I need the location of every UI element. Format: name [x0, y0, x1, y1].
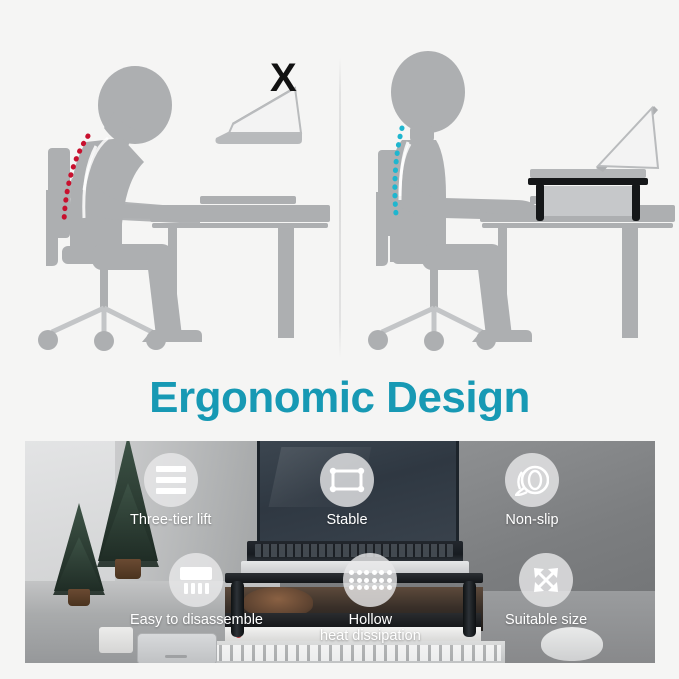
feature-label: Suitable size [505, 612, 587, 628]
computer-mouse [541, 627, 603, 661]
feature-label: Non-slip [505, 512, 558, 528]
feature-hollow-heat-dissipation[interactable]: Hollow heat dissipation [320, 553, 421, 644]
feature-label: Easy to disassemble [130, 612, 263, 628]
rectangle-frame-icon [320, 453, 374, 507]
bad-posture-panel: X [0, 0, 339, 362]
bad-posture-illustration [0, 0, 339, 362]
feature-label: Three-tier lift [130, 512, 211, 528]
good-posture-illustration [340, 0, 679, 362]
perforated-dots-icon [343, 553, 397, 607]
page-title: Ergonomic Design [0, 373, 679, 423]
wrong-mark-icon: X [270, 58, 296, 98]
feature-easy-to-disassemble[interactable]: Easy to disassemble [130, 553, 263, 628]
smartphone [137, 633, 217, 663]
tape-roll-icon [505, 453, 559, 507]
infographic-page: X [0, 0, 679, 679]
feature-stable[interactable]: Stable [320, 453, 374, 528]
feature-label: Stable [326, 512, 367, 528]
detachable-part-icon [169, 553, 223, 607]
keyboard-keys [211, 645, 501, 661]
stacked-bars-icon [144, 453, 198, 507]
good-posture-panel [340, 0, 679, 362]
expand-arrows-icon [519, 553, 573, 607]
comparison-section: X [0, 0, 679, 362]
small-pad [99, 627, 133, 653]
product-photo: Three-tier lift Stable No [25, 441, 655, 663]
feature-suitable-size[interactable]: Suitable size [505, 553, 587, 628]
stand-leg-right [463, 581, 476, 637]
pine-tree-small [53, 503, 105, 603]
feature-label: Hollow heat dissipation [320, 612, 421, 644]
phone-edge [165, 655, 187, 658]
feature-three-tier-lift[interactable]: Three-tier lift [130, 453, 211, 528]
feature-non-slip[interactable]: Non-slip [505, 453, 559, 528]
